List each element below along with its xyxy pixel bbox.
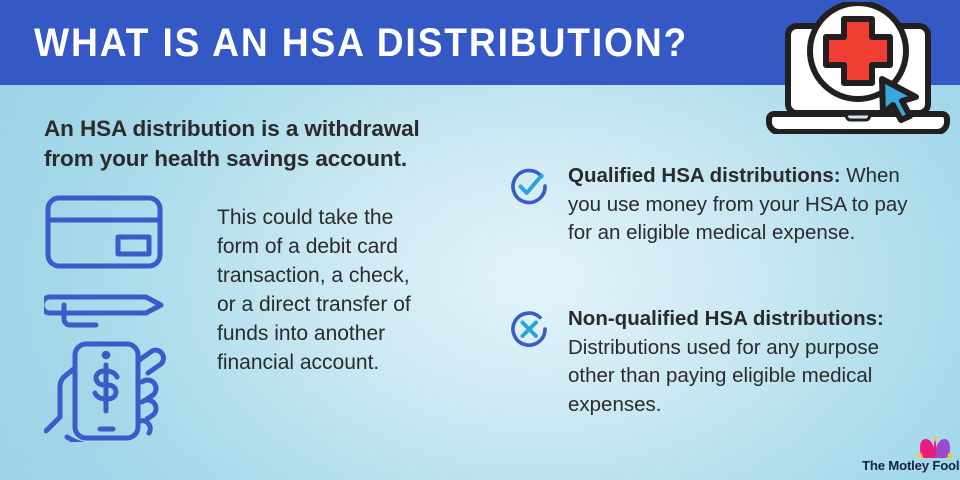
intro-statement: An HSA distribution is a withdrawal from… bbox=[44, 114, 464, 174]
bullet-body-non-qualified: Distributions used for any purpose other… bbox=[568, 336, 879, 416]
page-title: WHAT IS AN HSA DISTRIBUTION? bbox=[34, 17, 688, 69]
bullet-text-non-qualified: Non-qualified HSA distributions: Distrib… bbox=[568, 305, 928, 419]
payment-methods-icon-group bbox=[44, 192, 204, 442]
x-circle-icon bbox=[508, 308, 550, 350]
infographic-root: WHAT IS AN HSA DISTRIBUTION? An HSA dist… bbox=[0, 0, 960, 480]
bullet-lead-qualified: Qualified HSA distributions: bbox=[568, 164, 841, 187]
bullet-text-qualified: Qualified HSA distributions: When you us… bbox=[568, 162, 928, 248]
payment-methods-description: This could take the form of a debit card… bbox=[217, 203, 422, 377]
bullet-lead-non-qualified: Non-qualified HSA distributions: bbox=[568, 307, 884, 330]
list-item-qualified: Qualified HSA distributions: When you us… bbox=[508, 162, 928, 248]
jester-hat-icon bbox=[916, 437, 954, 458]
laptop-medical-cross-cursor-icon bbox=[760, 2, 956, 134]
motley-fool-logo: The Motley Fool bbox=[862, 437, 954, 473]
debit-card-icon bbox=[48, 198, 160, 266]
hand-holding-phone-dollar-icon bbox=[46, 344, 163, 442]
pen-signature-icon bbox=[44, 297, 161, 325]
list-item-non-qualified: Non-qualified HSA distributions: Distrib… bbox=[508, 305, 928, 419]
check-circle-icon bbox=[508, 165, 550, 207]
logo-wordmark: The Motley Fool bbox=[862, 458, 959, 473]
